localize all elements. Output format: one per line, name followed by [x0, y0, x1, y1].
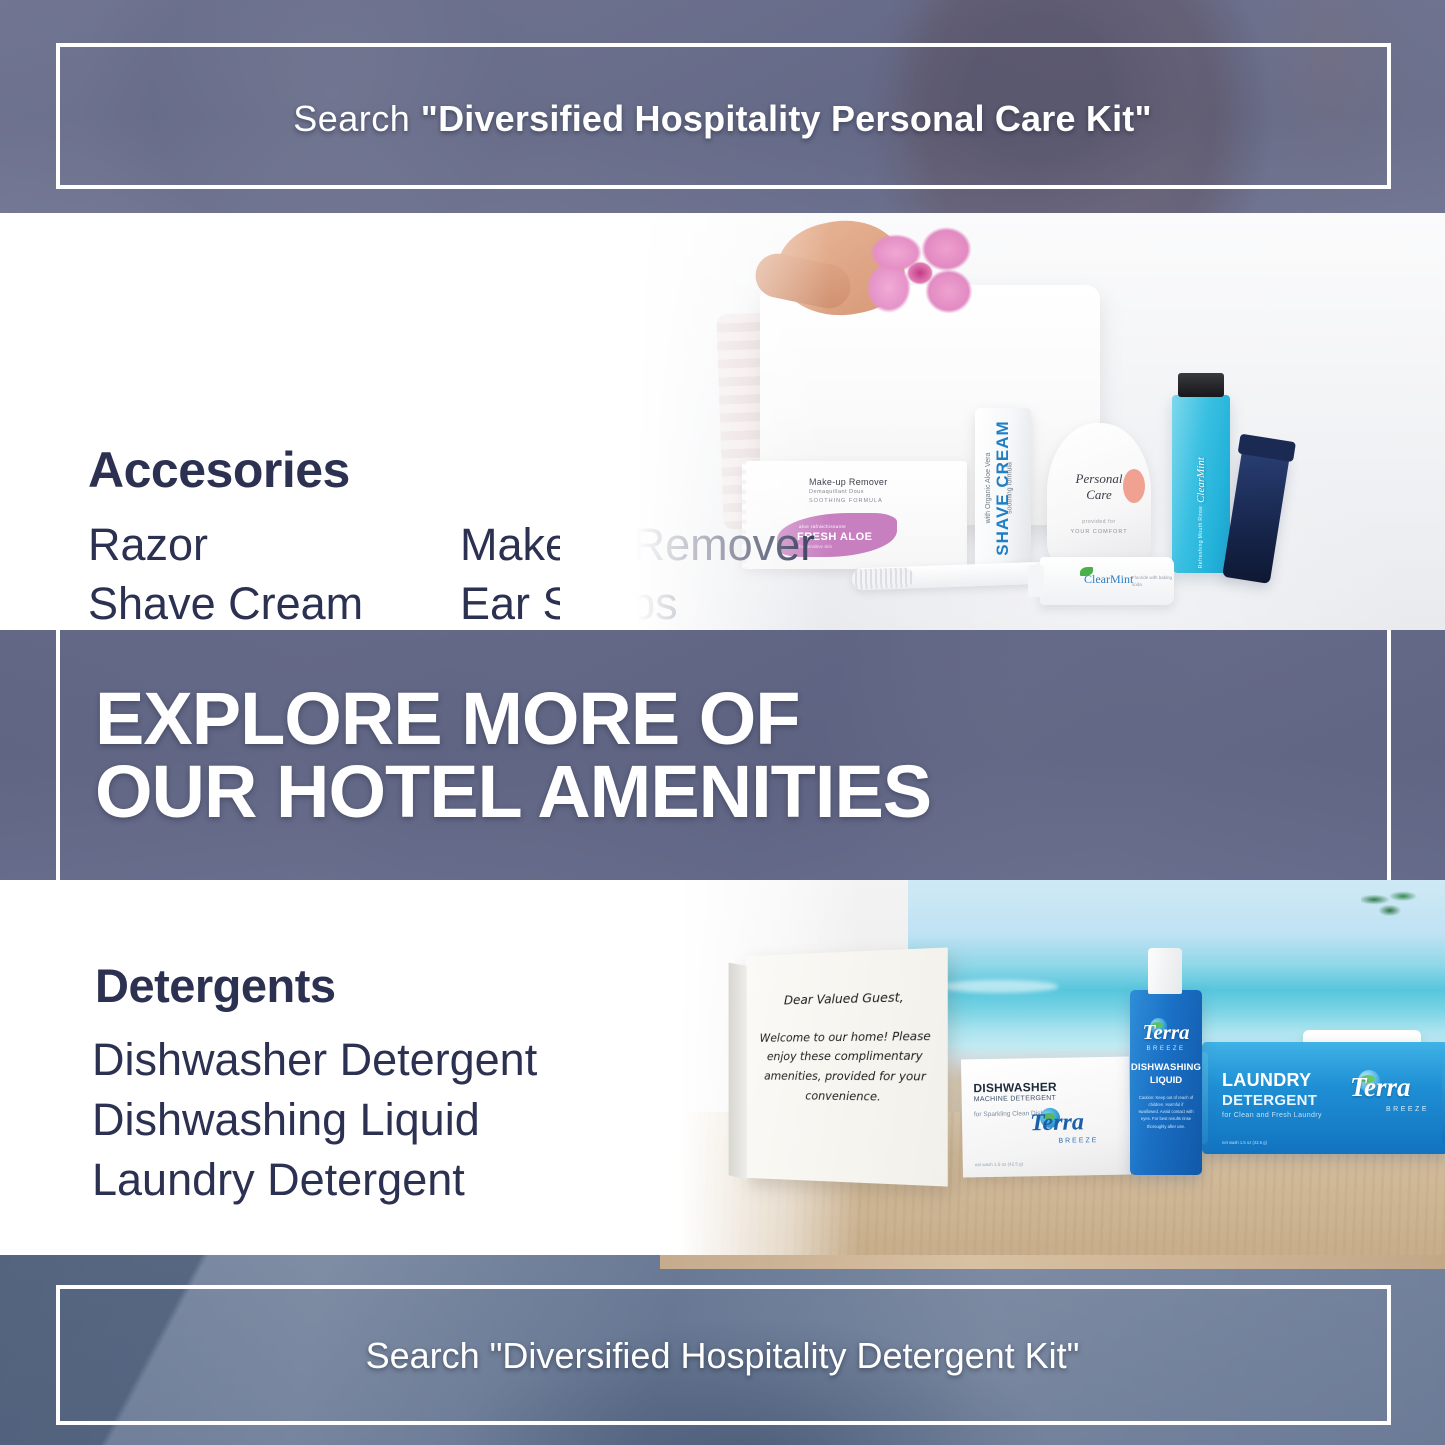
- explore-headline-line-1: EXPLORE MORE OF: [95, 682, 931, 755]
- laundry-fine-print: net wash 1.5 oz (42.5 g): [1222, 1140, 1267, 1145]
- dishwashing-liquid-line-2: LIQUID: [1130, 1075, 1202, 1086]
- banner-explore-amenities: EXPLORE MORE OF OUR HOTEL AMENITIES: [0, 630, 1445, 880]
- accessories-heading: Accesories: [88, 441, 350, 499]
- banner-top-text: Search "Diversified Hospitality Personal…: [0, 98, 1445, 140]
- makeup-badge-top: aloe rafraichissante: [799, 524, 846, 529]
- laundry-line-1: LAUNDRY: [1222, 1070, 1311, 1091]
- makeup-badge-main: FRESH ALOE: [797, 531, 873, 543]
- section-detergents: Dear Valued Guest, Welcome to our home! …: [0, 880, 1445, 1255]
- banner-bottom-wood-edge: [660, 1255, 1445, 1269]
- laundry-detergent-packet: LAUNDRY DETERGENT for Clean and Fresh La…: [1200, 1042, 1445, 1154]
- laundry-line-3: for Clean and Fresh Laundry: [1222, 1112, 1322, 1119]
- greeting-card-text: Dear Valued Guest, Welcome to our home! …: [754, 985, 937, 1108]
- greeting-card-body: Welcome to our home! Please enjoy these …: [754, 1026, 937, 1108]
- folded-towel-stack: [716, 311, 813, 529]
- dishwasher-line-1: DISHWASHER: [973, 1080, 1057, 1095]
- mouthwash-cap: [1178, 373, 1224, 397]
- detergents-product-photo: Dear Valued Guest, Welcome to our home! …: [600, 880, 1445, 1255]
- dishwashing-liquid-brand: Terra: [1130, 1020, 1202, 1045]
- banner-top-prefix: Search: [293, 98, 421, 139]
- dishwasher-detergent-packet: DISHWASHER MACHINE DETERGENT for Sparkli…: [961, 1057, 1131, 1178]
- explore-headline: EXPLORE MORE OF OUR HOTEL AMENITIES: [95, 682, 931, 829]
- accessories-product-photo: Make-up Remover Demaquillant Doux SOOTHI…: [560, 213, 1445, 630]
- banner-bottom-quote: "Diversified Hospitality Detergent Kit": [490, 1335, 1080, 1376]
- shave-cream-tube: soothing formula SHAVE CREAM with Organi…: [975, 408, 1031, 568]
- orchid-flower: [860, 227, 980, 319]
- soap-small-2: YOUR COMFORT: [1047, 529, 1151, 535]
- detergents-list: Dishwasher Detergent Dishwashing Liquid …: [92, 1030, 537, 1210]
- greeting-card-salutation: Dear Valued Guest,: [754, 985, 937, 1011]
- mouthwash-sub: Refreshing Mouth Rinse: [1198, 506, 1204, 568]
- toothpaste-cap: [1028, 565, 1044, 597]
- list-item: Dishwasher Detergent: [92, 1030, 537, 1090]
- list-item: Razor: [88, 516, 363, 575]
- toothpaste-tube: ClearMint Fluoride with baking soda: [1040, 557, 1174, 605]
- dishwashing-liquid-brand-sub: BREEZE: [1130, 1046, 1202, 1052]
- banner-top-quote: "Diversified Hospitality Personal Care K…: [421, 98, 1152, 139]
- toothbrush-bristles: [852, 567, 915, 589]
- shave-cream-right-text: with Organic Aloe Vera: [985, 453, 992, 524]
- makeup-tagline: SOOTHING FORMULA: [809, 498, 883, 504]
- laundry-line-2: DETERGENT: [1222, 1092, 1317, 1109]
- dishwashing-liquid-cap: [1148, 948, 1182, 994]
- greeting-card-spine: [729, 963, 747, 1180]
- banner-personal-care-search: Search "Diversified Hospitality Personal…: [0, 0, 1445, 213]
- palm-leaves: [1361, 886, 1421, 920]
- accessories-column-1: Razor Shave Cream Tooth Brush Tooth Past…: [88, 516, 363, 630]
- laundry-brand: Terra: [1350, 1072, 1411, 1103]
- laundry-brand-sub: BREEZE: [1386, 1106, 1429, 1113]
- dishwasher-brand-sub: BREEZE: [1058, 1137, 1098, 1145]
- banner-bottom-text: Search "Diversified Hospitality Detergen…: [0, 1335, 1445, 1377]
- mouthwash-brand: ClearMint: [1195, 458, 1207, 504]
- list-item: Laundry Detergent: [92, 1150, 537, 1210]
- dishwashing-liquid-bottle: Terra BREEZE DISHWASHING LIQUID Caution:…: [1130, 990, 1202, 1175]
- makeup-subtitle: Demaquillant Doux: [809, 489, 864, 495]
- dishwashing-liquid-line-1: DISHWASHING: [1130, 1062, 1202, 1073]
- makeup-remover-packet: Make-up Remover Demaquillant Doux SOOTHI…: [742, 461, 967, 569]
- razor: [1222, 448, 1290, 584]
- shave-cream-name: SHAVE CREAM: [993, 420, 1013, 555]
- razor-head: [1238, 434, 1296, 463]
- section-accessories: Make-up Remover Demaquillant Doux SOOTHI…: [0, 213, 1445, 630]
- toothpaste-fine-print: Fluoride with baking soda: [1132, 575, 1174, 589]
- soap-line-1: Personal: [1047, 471, 1151, 487]
- makeup-badge-bottom: for sensitive skin: [799, 544, 832, 549]
- dishwasher-line-2: MACHINE DETERGENT: [974, 1095, 1057, 1103]
- personal-care-soap: Personal Care provided for YOUR COMFORT: [1047, 423, 1151, 568]
- explore-headline-line-2: OUR HOTEL AMENITIES: [95, 755, 931, 828]
- detergents-heading: Detergents: [95, 958, 336, 1013]
- banner-bottom-prefix: Search: [366, 1335, 490, 1376]
- aloe-leaf-badge: aloe rafraichissante FRESH ALOE for sens…: [777, 513, 897, 557]
- list-item: Dishwashing Liquid: [92, 1090, 537, 1150]
- soap-line-2: Care: [1047, 487, 1151, 503]
- banner-detergent-search: Search "Diversified Hospitality Detergen…: [0, 1255, 1445, 1445]
- list-item: Shave Cream: [88, 575, 363, 630]
- dishwasher-fine-print: net wash 1.5 oz (42.5 g): [975, 1161, 1023, 1167]
- greeting-card: Dear Valued Guest, Welcome to our home! …: [745, 947, 948, 1186]
- marketing-infographic: Search "Diversified Hospitality Personal…: [0, 0, 1445, 1445]
- dishwasher-brand: Terra: [1030, 1109, 1084, 1137]
- mouthwash-bottle: ClearMint Refreshing Mouth Rinse: [1172, 395, 1230, 573]
- makeup-title: Make-up Remover: [809, 477, 888, 487]
- soap-small-1: provided for: [1047, 519, 1151, 525]
- toothpaste-brand: ClearMint: [1084, 572, 1133, 587]
- dishwashing-liquid-fine-print: Caution: Keep out of reach of children. …: [1138, 1094, 1194, 1130]
